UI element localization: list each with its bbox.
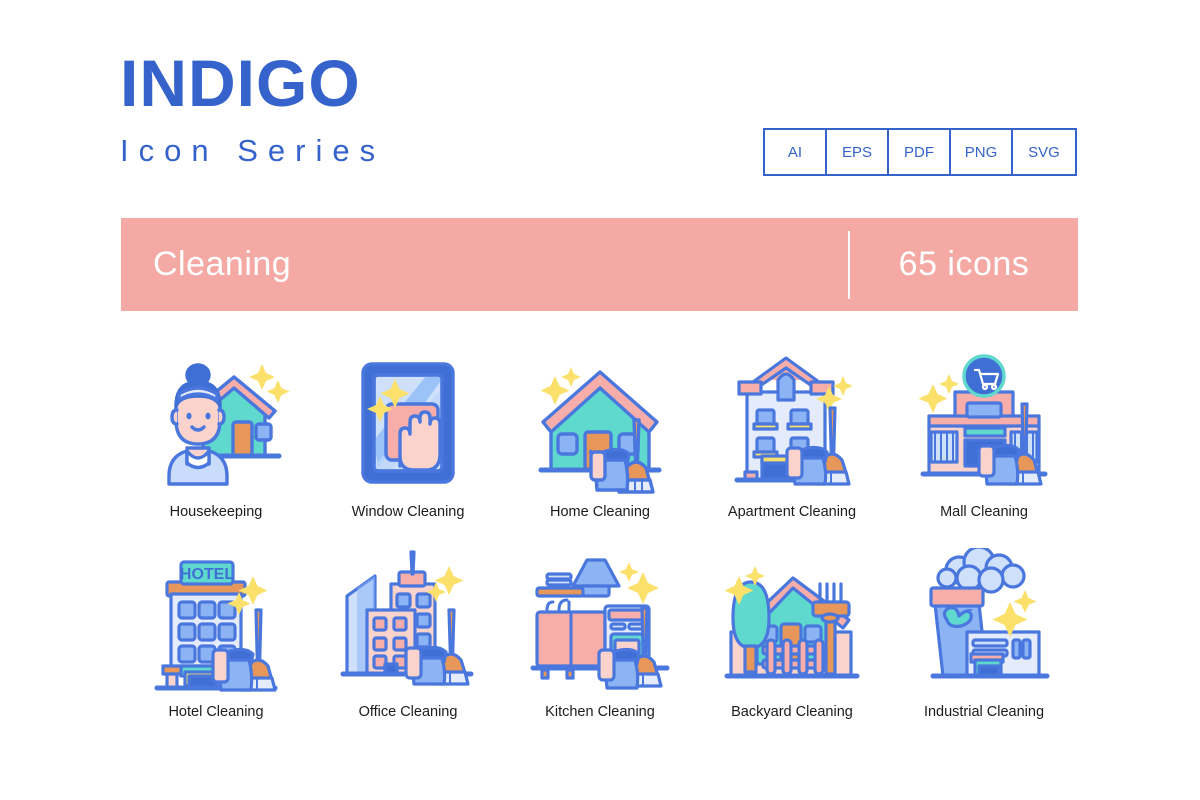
banner-divider <box>848 231 850 299</box>
icon-grid: Housekeeping <box>120 348 1080 748</box>
format-badge-group: AI EPS PDF PNG SVG <box>763 128 1077 176</box>
icon-cell-backyard-cleaning[interactable]: Backyard Cleaning <box>696 548 888 748</box>
kitchen-cleaning-icon <box>525 548 675 698</box>
mall-cleaning-icon <box>909 348 1059 498</box>
apartment-cleaning-icon <box>717 348 867 498</box>
banner-icon-count: 65 icons <box>850 245 1078 284</box>
icon-label: Housekeeping <box>170 504 263 520</box>
icon-label: Backyard Cleaning <box>731 704 853 720</box>
header: INDIGO Icon Series <box>120 48 385 169</box>
icon-label: Apartment Cleaning <box>728 504 856 520</box>
icon-label: Home Cleaning <box>550 504 650 520</box>
icon-label: Office Cleaning <box>359 704 458 720</box>
icon-cell-housekeeping[interactable]: Housekeeping <box>120 348 312 548</box>
banner-category-label: Cleaning <box>153 245 291 284</box>
office-cleaning-icon <box>333 548 483 698</box>
hotel-cleaning-icon: HOTEL <box>141 548 291 698</box>
format-badge-svg[interactable]: SVG <box>1013 130 1075 174</box>
icon-cell-mall-cleaning[interactable]: Mall Cleaning <box>888 348 1080 548</box>
format-badge-png[interactable]: PNG <box>951 130 1013 174</box>
icon-label: Kitchen Cleaning <box>545 704 655 720</box>
icon-label: Hotel Cleaning <box>168 704 263 720</box>
home-cleaning-icon <box>525 348 675 498</box>
page-title: INDIGO <box>120 48 385 119</box>
icon-label: Mall Cleaning <box>940 504 1028 520</box>
poster-page: INDIGO Icon Series AI EPS PDF PNG SVG Cl… <box>0 0 1200 800</box>
icon-cell-apartment-cleaning[interactable]: Apartment Cleaning <box>696 348 888 548</box>
icon-cell-hotel-cleaning[interactable]: HOTEL <box>120 548 312 748</box>
format-badge-pdf[interactable]: PDF <box>889 130 951 174</box>
window-cleaning-icon <box>333 348 483 498</box>
format-badge-ai[interactable]: AI <box>765 130 827 174</box>
icon-cell-office-cleaning[interactable]: Office Cleaning <box>312 548 504 748</box>
industrial-cleaning-icon <box>909 548 1059 698</box>
icon-cell-kitchen-cleaning[interactable]: Kitchen Cleaning <box>504 548 696 748</box>
banner-right-group: 65 icons <box>848 231 1078 299</box>
icon-cell-industrial-cleaning[interactable]: Industrial Cleaning <box>888 548 1080 748</box>
hotel-sign-text: HOTEL <box>180 566 234 583</box>
icon-label: Window Cleaning <box>352 504 465 520</box>
icon-label: Industrial Cleaning <box>924 704 1044 720</box>
category-banner: Cleaning 65 icons <box>121 218 1078 311</box>
housekeeping-icon <box>141 348 291 498</box>
icon-cell-window-cleaning[interactable]: Window Cleaning <box>312 348 504 548</box>
format-badge-eps[interactable]: EPS <box>827 130 889 174</box>
icon-cell-home-cleaning[interactable]: Home Cleaning <box>504 348 696 548</box>
page-subtitle: Icon Series <box>120 133 385 169</box>
backyard-cleaning-icon <box>717 548 867 698</box>
